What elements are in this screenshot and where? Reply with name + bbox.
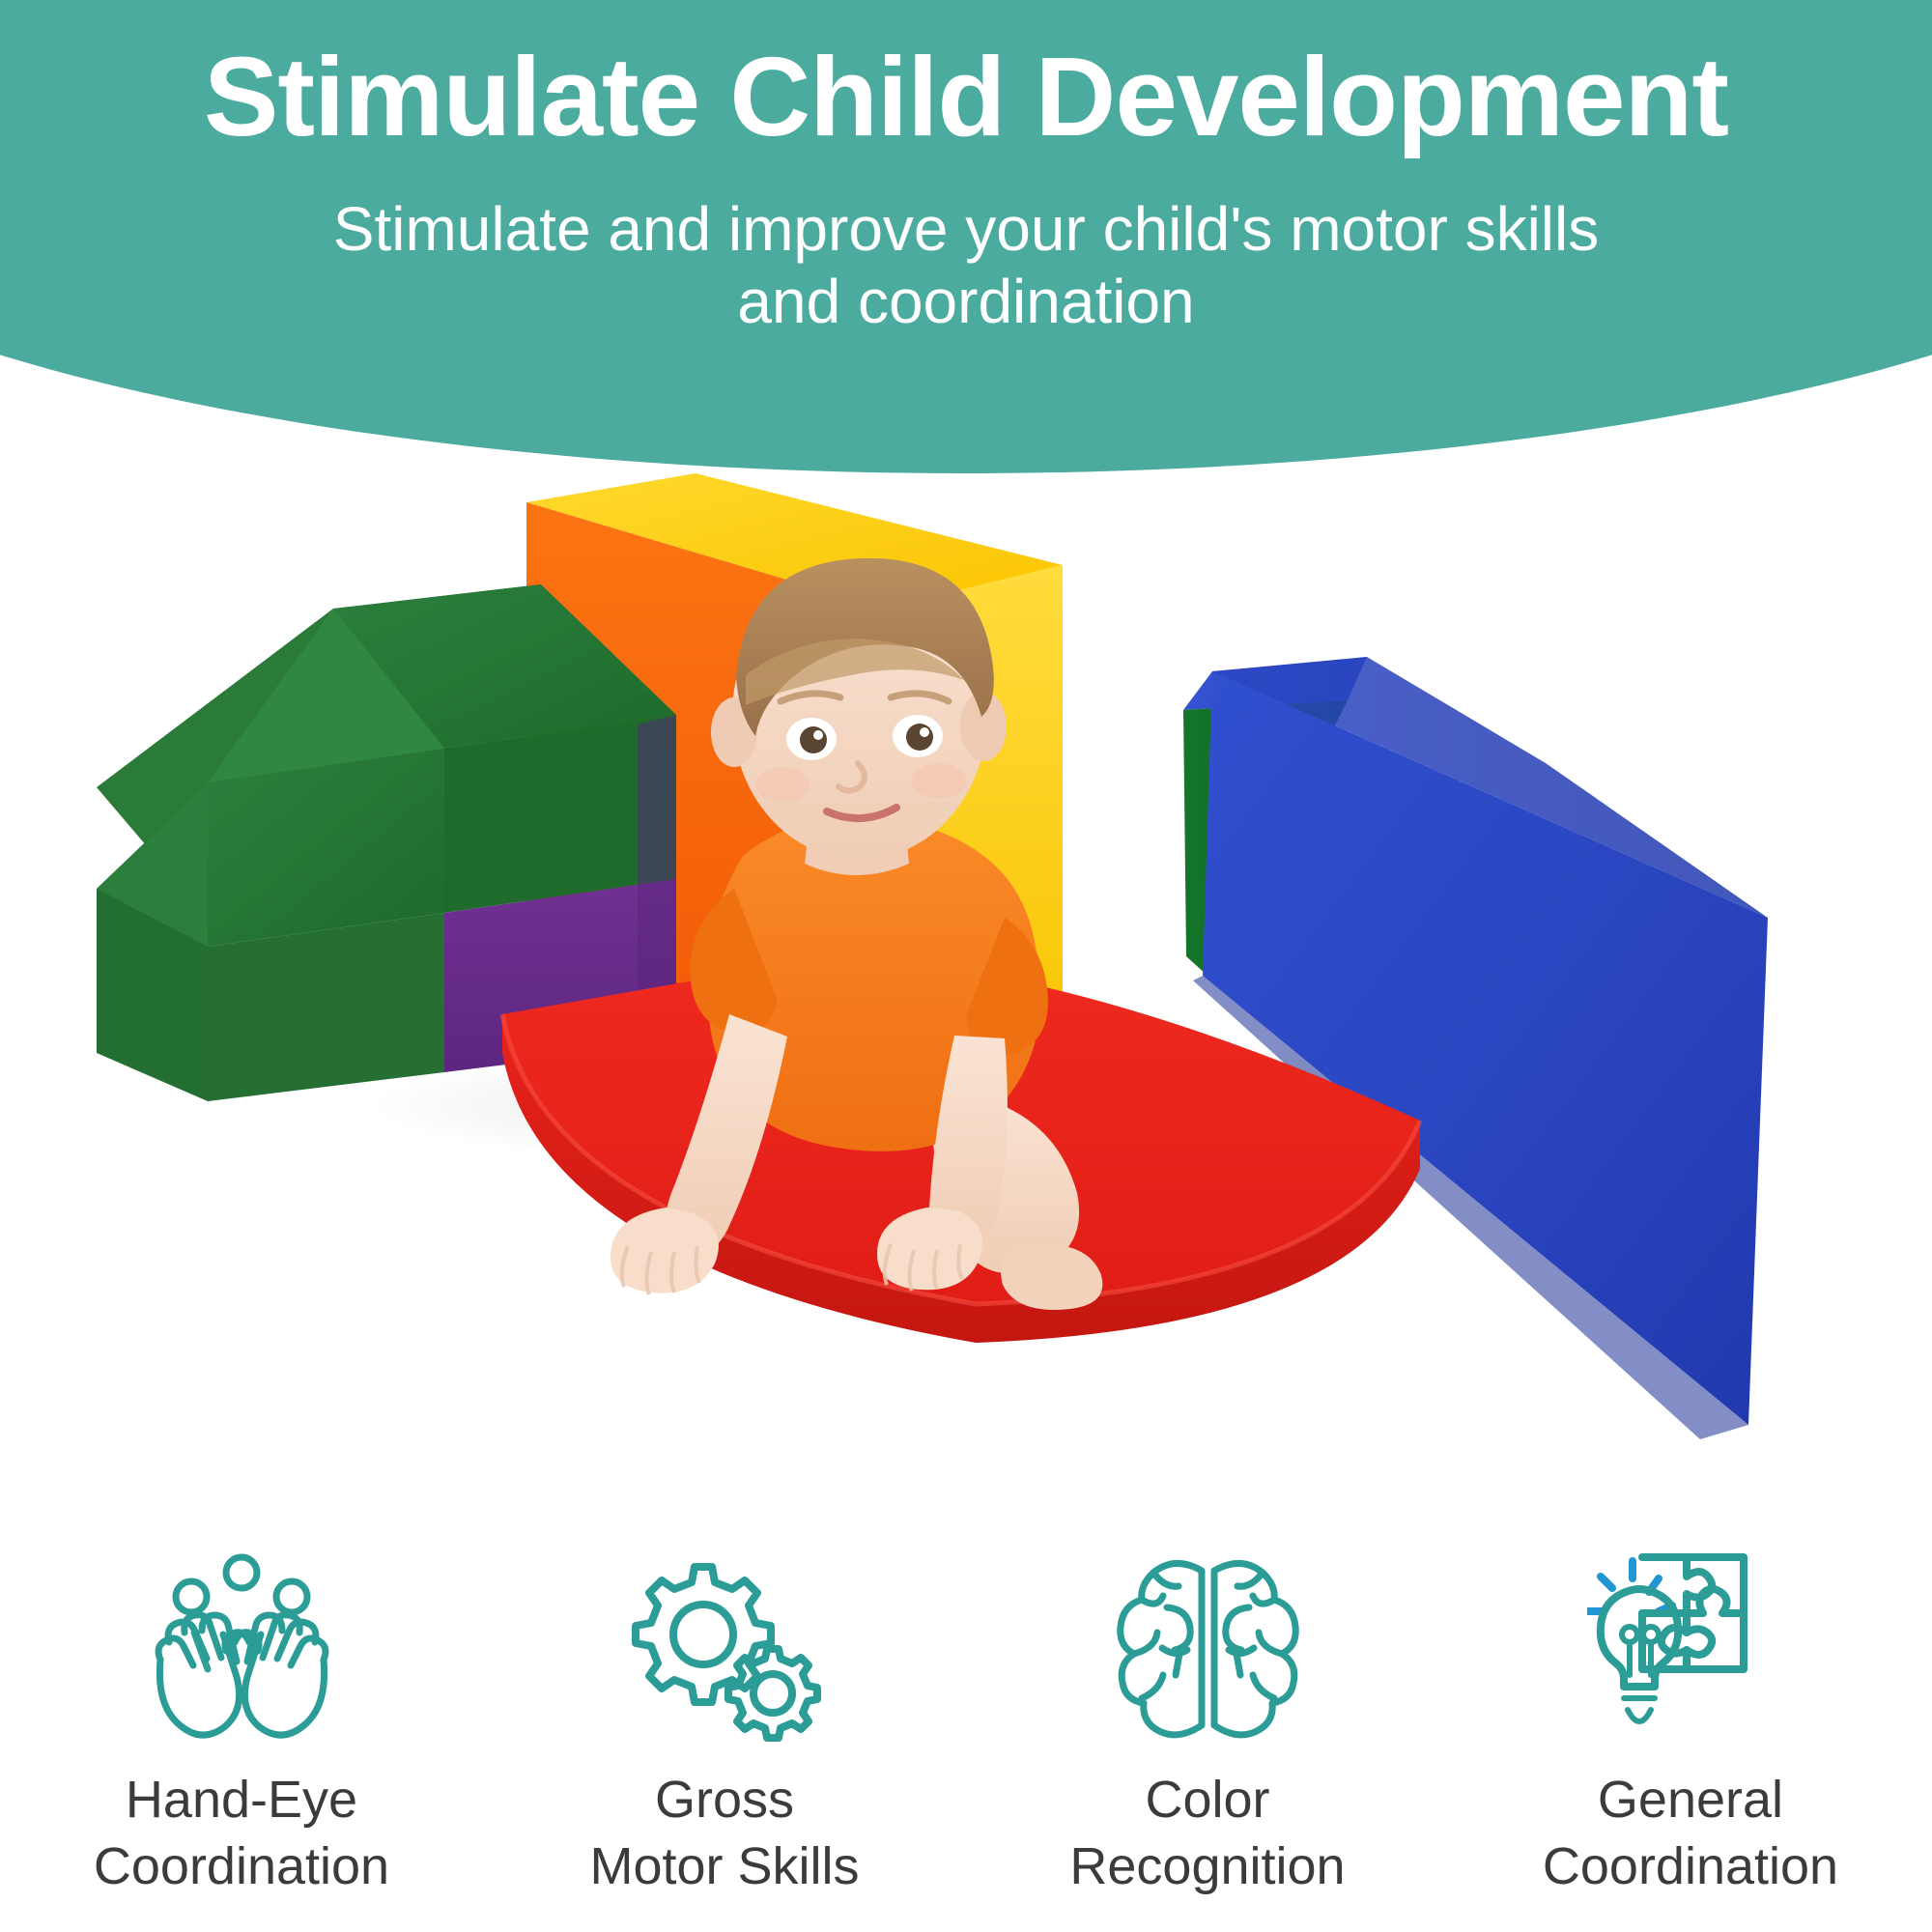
brain-left-hemisphere [1120, 1563, 1201, 1734]
header-text-block: Stimulate Child Development Stimulate an… [0, 0, 1932, 338]
feature-label-line-1: Gross [589, 1767, 859, 1833]
feature-label-line-2: Recognition [1069, 1833, 1345, 1900]
baby-left-eye-glint [813, 730, 823, 740]
feature-item-general-coordination: General Coordination [1449, 1546, 1932, 1900]
feature-label-color-recognition: Color Recognition [1069, 1767, 1345, 1900]
feature-label-line-1: General [1543, 1767, 1838, 1833]
feature-label-line-1: Color [1069, 1767, 1345, 1833]
page-subtitle-line-1: Stimulate and improve your child's motor… [0, 193, 1932, 266]
lightbulb-puzzle-icon [1587, 1546, 1795, 1753]
feature-item-hand-eye-coordination: Hand-Eye Coordination [0, 1546, 483, 1900]
feature-label-gross-motor-skills: Gross Motor Skills [589, 1767, 859, 1900]
ball-top-center [226, 1557, 257, 1588]
feature-label-general-coordination: General Coordination [1543, 1767, 1838, 1900]
brain-icon [1104, 1546, 1312, 1753]
brain-right-hemisphere [1214, 1563, 1295, 1734]
page-subtitle-line-2: and coordination [0, 266, 1932, 338]
feature-label-line-2: Coordination [94, 1833, 389, 1900]
clapping-hands-icon [138, 1546, 346, 1753]
feature-list: Hand-Eye Coordination Gros [0, 1546, 1932, 1900]
product-feature-card: Stimulate Child Development Stimulate an… [0, 0, 1932, 1932]
foam-play-set-illustration [0, 473, 1932, 1497]
header-banner: Stimulate Child Development Stimulate an… [0, 0, 1932, 483]
baby-left-iris [800, 726, 827, 753]
lightbulb-rays [1587, 1561, 1672, 1611]
ball-top-right [276, 1581, 307, 1612]
right-hand-shape [224, 1614, 325, 1734]
feature-label-hand-eye-coordination: Hand-Eye Coordination [94, 1767, 389, 1900]
feature-label-line-2: Motor Skills [589, 1833, 859, 1900]
baby-right-cheek [912, 763, 966, 798]
feature-item-gross-motor-skills: Gross Motor Skills [483, 1546, 966, 1900]
baby-right-iris [906, 724, 933, 751]
blue-triangle-wedge [1183, 657, 1768, 1439]
feature-label-line-2: Coordination [1543, 1833, 1838, 1900]
baby-right-eye-glint [920, 727, 929, 737]
small-gear [728, 1649, 817, 1738]
stair-lower-tread [208, 749, 444, 947]
product-photo [0, 473, 1932, 1497]
gears-icon [621, 1546, 829, 1753]
puzzle-squares [1642, 1557, 1744, 1669]
feature-label-line-1: Hand-Eye [94, 1767, 389, 1833]
ball-top-left [176, 1581, 207, 1612]
page-subtitle: Stimulate and improve your child's motor… [0, 193, 1932, 338]
page-title: Stimulate Child Development [0, 0, 1932, 153]
feature-item-color-recognition: Color Recognition [966, 1546, 1449, 1900]
baby-left-cheek [755, 767, 810, 802]
large-gear [636, 1567, 771, 1702]
